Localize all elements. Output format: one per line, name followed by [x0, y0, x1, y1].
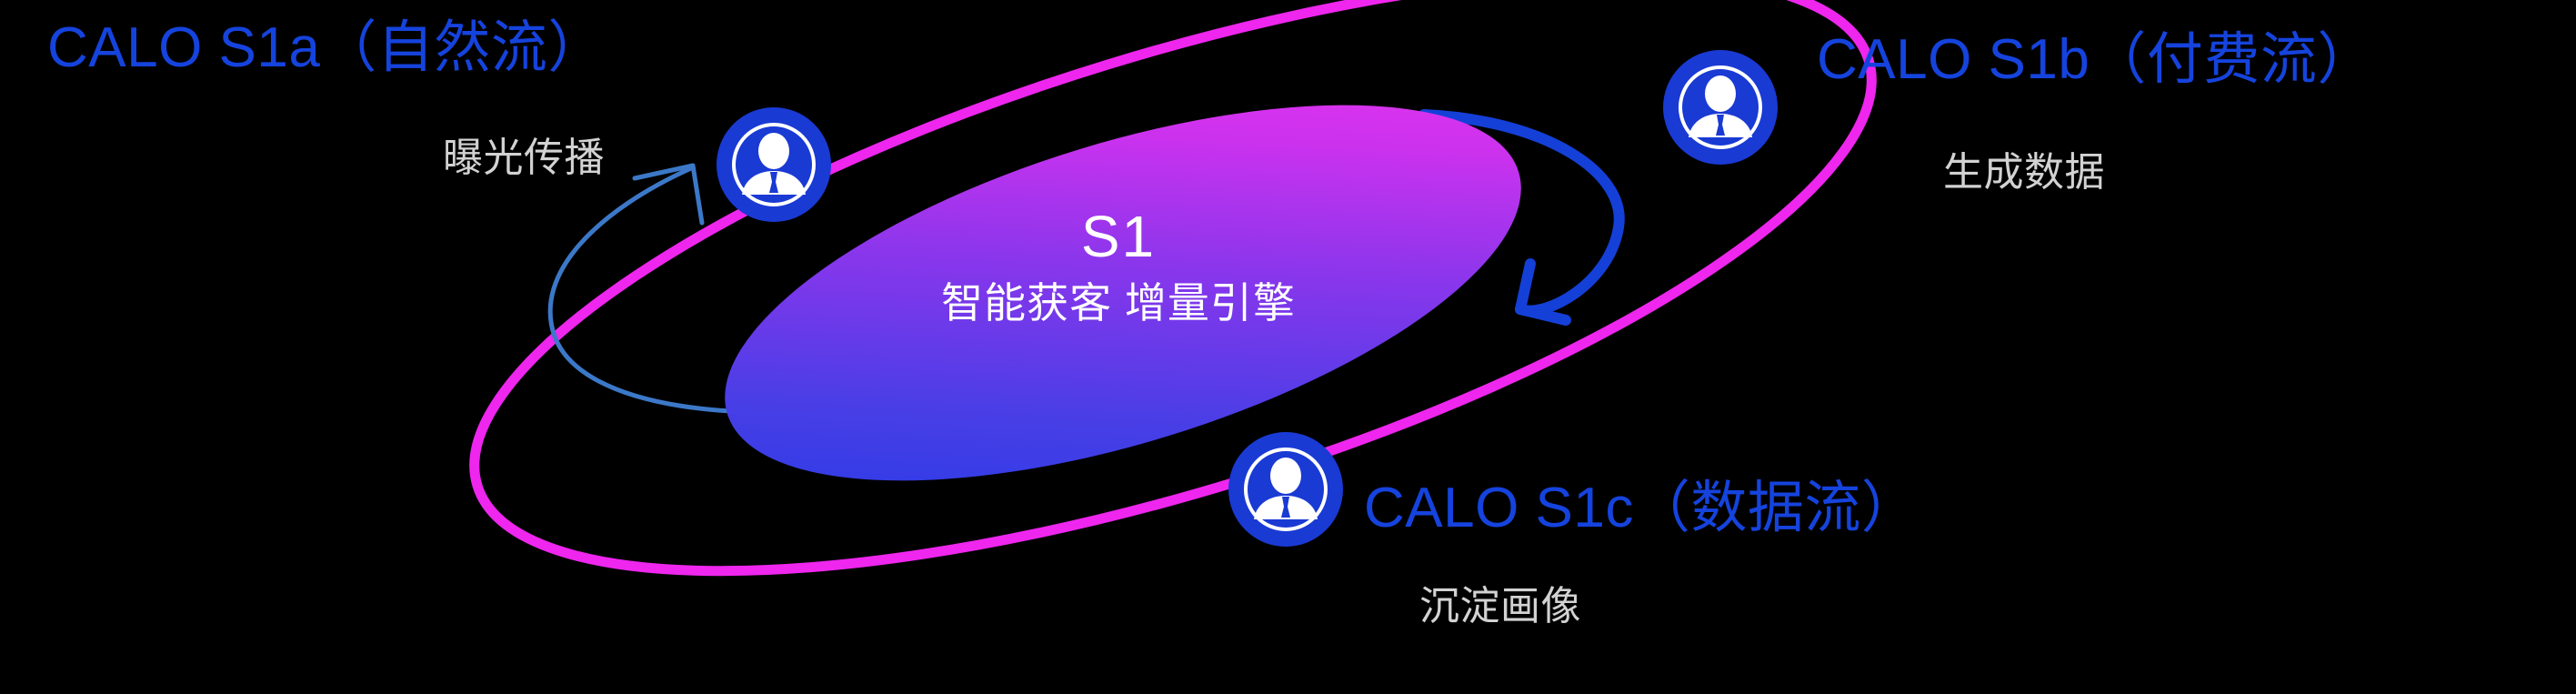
- badge-s1b[interactable]: [1663, 50, 1778, 165]
- diagram-artwork: [0, 0, 2576, 694]
- flow-label-s1c-subtitle: 沉淀画像: [1419, 587, 1581, 627]
- flow-label-s1b-title: CALO S1b（付费流）: [1817, 32, 2374, 88]
- flow-label-s1b-subtitle: 生成数据: [1943, 153, 2105, 193]
- flow-label-s1c-title: CALO S1c（数据流）: [1364, 480, 1918, 537]
- flow-label-s1a-subtitle: 曝光传播: [443, 138, 605, 178]
- badge-s1c[interactable]: [1228, 432, 1343, 547]
- diagram-canvas: S1 智能获客 增量引擎 CALO S1a（自然流） 曝光传播 CALO S1b…: [0, 0, 2576, 694]
- flow-label-s1a-title: CALO S1a（自然流）: [47, 20, 605, 76]
- badge-s1a[interactable]: [717, 107, 831, 222]
